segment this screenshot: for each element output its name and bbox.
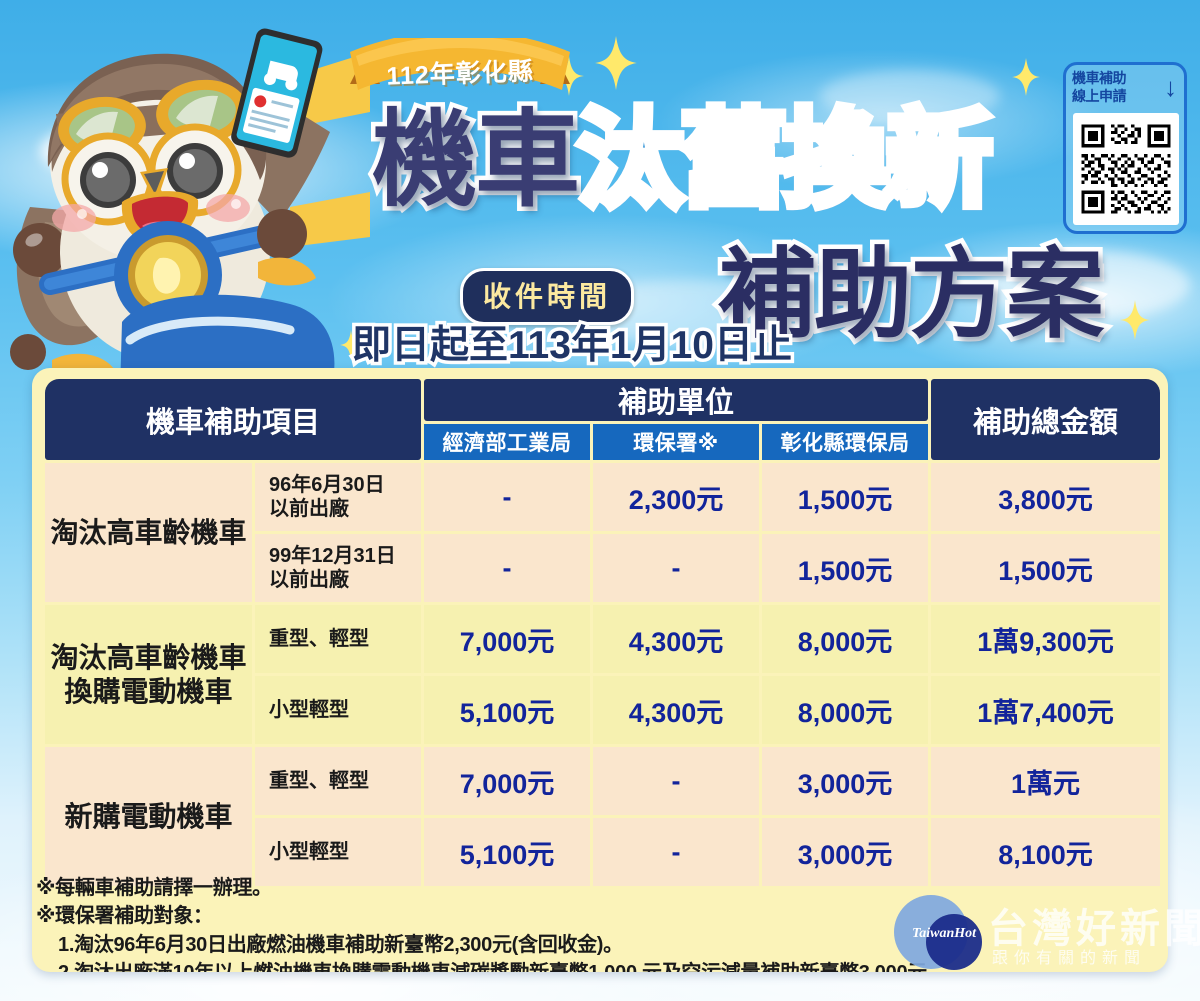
th-agency-group: 補助單位 [424, 379, 928, 421]
subsidy-table: 機車補助項目 補助單位 補助總金額 經濟部工業局 環保署※ 彰化縣環保局 淘汰高… [42, 376, 1163, 889]
row-subtype: 99年12月31日以前出廠 [255, 534, 421, 602]
qr-code-icon[interactable] [1073, 113, 1179, 225]
table-row: 淘汰高車齡機車 96年6月30日以前出廠 - 2,300元 1,500元 3,8… [45, 463, 1160, 531]
footnote-line: ※環保署補助對象： [36, 902, 1056, 930]
cell-value: - [593, 534, 759, 602]
cell-value: 8,000元 [762, 605, 928, 673]
owl-mascot-illustration [0, 22, 370, 392]
title-part-jiche: 機車 [372, 102, 578, 219]
th-agency-epa: 環保署※ [593, 424, 759, 460]
th-item: 機車補助項目 [45, 379, 421, 460]
cell-value: 8,000元 [762, 676, 928, 744]
sparkle-icon [595, 36, 637, 90]
cell-value: 3,000元 [762, 747, 928, 815]
sparkle-icon [1012, 58, 1040, 96]
th-agency-moea: 經濟部工業局 [424, 424, 590, 460]
row-category: 新購電動機車 [45, 747, 252, 886]
footnote-line: 2.淘汰出廠滿10年以上燃油機車換購電動機車減碳獎勵新臺幣1,000 元及空污減… [36, 959, 1056, 972]
cell-total: 3,800元 [931, 463, 1160, 531]
cell-value: 2,300元 [593, 463, 759, 531]
intake-date-range: 即日起至113年1月10日止 [352, 314, 792, 370]
row-subtype: 96年6月30日以前出廠 [255, 463, 421, 531]
table-row: 淘汰高車齡機車換購電動機車 重型、輕型 7,000元 4,300元 8,000元… [45, 605, 1160, 673]
cell-total: 1萬9,300元 [931, 605, 1160, 673]
cell-total: 1萬元 [931, 747, 1160, 815]
row-category: 淘汰高車齡機車 [45, 463, 252, 602]
page-title-line1: 機車汰舊換新 [372, 108, 990, 213]
cell-value: 7,000元 [424, 747, 590, 815]
footnotes: ※每輛車補助請擇一辦理。 ※環保署補助對象： 1.淘汰96年6月30日出廠燃油機… [36, 874, 1056, 972]
footnote-line: 1.淘汰96年6月30日出廠燃油機車補助新臺幣2,300元(含回收金)。 [36, 931, 1056, 959]
table-body: 淘汰高車齡機車 96年6月30日以前出廠 - 2,300元 1,500元 3,8… [45, 463, 1160, 886]
table-header-row-1: 機車補助項目 補助單位 補助總金額 [45, 379, 1160, 421]
cell-value: 4,300元 [593, 605, 759, 673]
cell-value: - [593, 747, 759, 815]
ribbon-label: 112年彰化縣 [349, 50, 570, 94]
cell-value: 5,100元 [424, 676, 590, 744]
th-total: 補助總金額 [931, 379, 1160, 460]
cell-value: - [424, 463, 590, 531]
row-category: 淘汰高車齡機車換購電動機車 [45, 605, 252, 744]
cell-total: 1,500元 [931, 534, 1160, 602]
title-part-taijiuhuanxin: 汰舊換新 [578, 102, 990, 219]
poster-canvas: 112年彰化縣 機車汰舊換新 補助方案 收件時間 即日起至113年1月10日止 … [0, 0, 1200, 1001]
cell-total: 1萬7,400元 [931, 676, 1160, 744]
cell-value: - [424, 534, 590, 602]
qr-application-box[interactable]: 機車補助 線上申請 ↓ [1063, 62, 1187, 234]
sparkle-icon [1120, 300, 1150, 340]
footnote-line: ※每輛車補助請擇一辦理。 [36, 874, 1056, 902]
cell-value: 7,000元 [424, 605, 590, 673]
row-subtype: 小型輕型 [255, 676, 421, 744]
th-agency-changhua-epb: 彰化縣環保局 [762, 424, 928, 460]
arrow-down-icon: ↓ [1164, 74, 1177, 100]
subsidy-table-panel: 機車補助項目 補助單位 補助總金額 經濟部工業局 環保署※ 彰化縣環保局 淘汰高… [32, 368, 1168, 972]
cell-value: 1,500元 [762, 463, 928, 531]
cell-value: 4,300元 [593, 676, 759, 744]
cell-value: 1,500元 [762, 534, 928, 602]
table-row: 新購電動機車 重型、輕型 7,000元 - 3,000元 1萬元 [45, 747, 1160, 815]
row-subtype: 重型、輕型 [255, 605, 421, 673]
row-subtype: 重型、輕型 [255, 747, 421, 815]
